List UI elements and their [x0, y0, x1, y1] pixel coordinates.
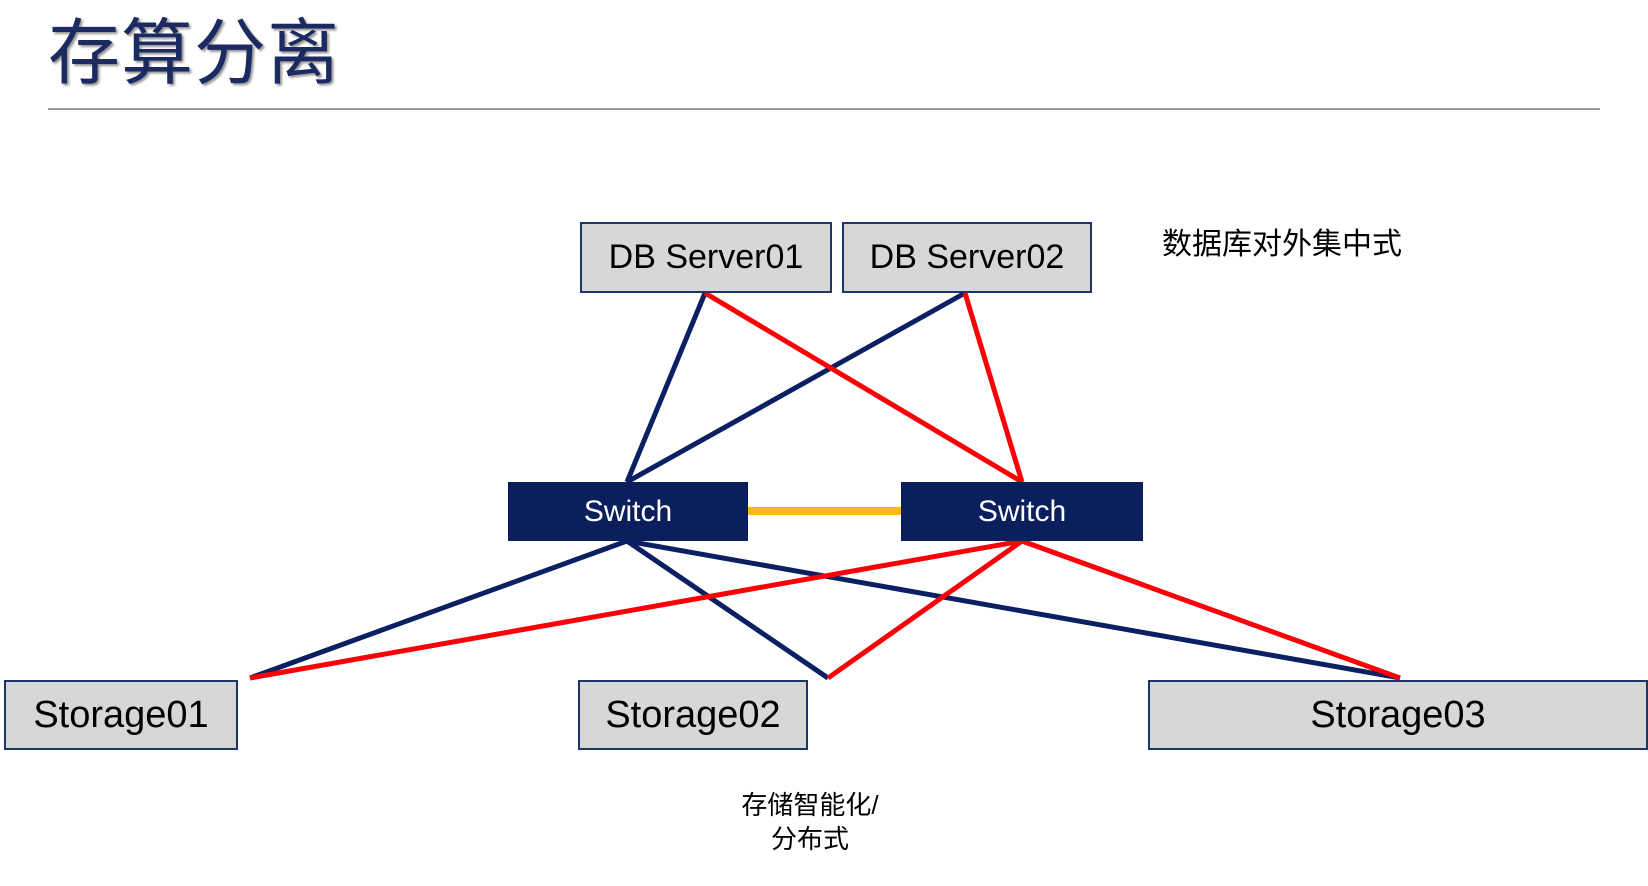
slide-canvas: 存算分离 DB Server01 DB Server02 Switch Swit…: [0, 0, 1648, 886]
link-switch01-storage01: [250, 541, 627, 678]
annotation-storage-line-1: 存储智能化/: [690, 788, 930, 822]
node-label: DB Server01: [609, 238, 804, 277]
link-switch02-storage02: [828, 541, 1022, 678]
node-storage-03[interactable]: Storage03: [1148, 680, 1648, 750]
node-storage-01[interactable]: Storage01: [4, 680, 238, 750]
annotation-database-tier: 数据库对外集中式: [1162, 223, 1402, 267]
link-db01-switch01: [627, 293, 705, 482]
node-switch-01[interactable]: Switch: [508, 482, 748, 541]
link-db02-switch01: [627, 293, 965, 482]
node-label: Storage03: [1310, 694, 1485, 737]
node-label: Switch: [978, 495, 1066, 529]
node-label: Storage02: [605, 694, 780, 737]
annotation-storage-line-2: 分布式: [690, 822, 930, 856]
node-db-server-02[interactable]: DB Server02: [842, 222, 1092, 293]
node-label: DB Server02: [870, 238, 1065, 277]
node-label: Storage01: [33, 694, 208, 737]
link-switch02-storage03: [1022, 541, 1400, 678]
node-label: Switch: [584, 495, 672, 529]
node-db-server-01[interactable]: DB Server01: [580, 222, 832, 293]
node-storage-02[interactable]: Storage02: [578, 680, 808, 750]
link-switch02-storage01: [250, 541, 1022, 678]
connection-lines: [0, 0, 1648, 886]
annotation-storage-tier: 存储智能化/ 分布式: [690, 788, 930, 856]
link-switch01-storage03: [627, 541, 1400, 678]
link-switch01-storage02: [627, 541, 828, 678]
node-switch-02[interactable]: Switch: [901, 482, 1143, 541]
